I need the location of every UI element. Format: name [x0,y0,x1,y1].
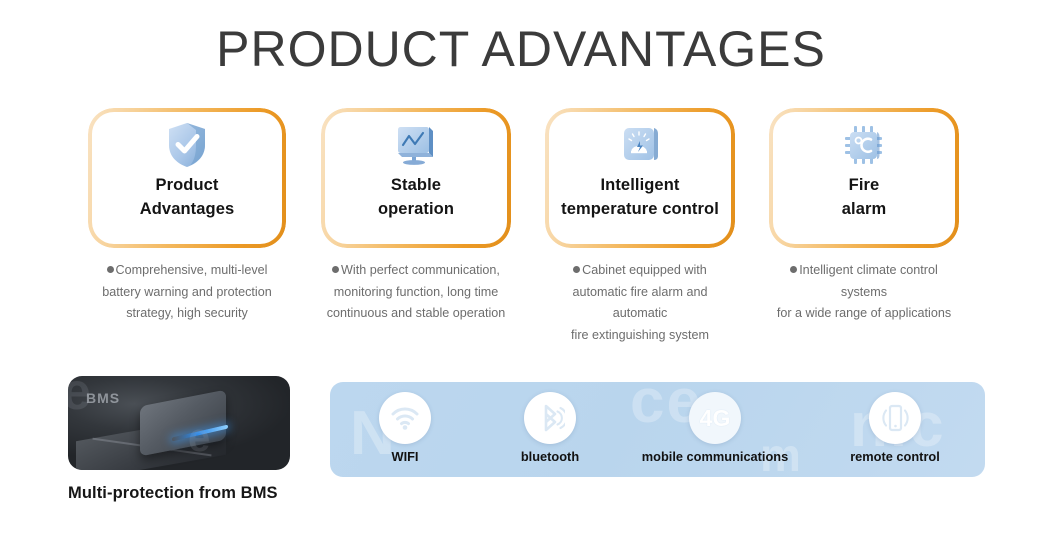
four-g-icon: 4G [689,392,741,444]
advantage-card-label: Product Advantages [140,174,235,222]
advantage-card-fire-alarm[interactable]: Fire alarm Intelligent climate control s… [769,108,959,325]
connectivity-item-mobile[interactable]: 4G mobile communications [655,392,775,464]
advantage-card-label: Fire alarm [842,174,887,222]
bms-caption: Multi-protection from BMS [68,484,290,503]
bluetooth-icon [524,392,576,444]
wifi-icon [379,392,431,444]
advantage-card-description: With perfect communication, monitoring f… [321,260,511,325]
bullet-dot-icon [107,266,114,273]
monitor-chart-icon [393,120,439,170]
temperature-gauge-icon [618,120,662,170]
connectivity-panel: N ce nic m WIFI [330,382,985,477]
advantage-card-temperature-control[interactable]: Intelligent temperature control Cabinet … [545,108,735,347]
bullet-dot-icon [573,266,580,273]
photo-watermark-secondary: e [188,416,210,461]
bms-chip-label: BMS [86,390,120,406]
bullet-dot-icon [332,266,339,273]
smartphone-signal-icon [869,392,921,444]
chip-celsius-icon [841,120,887,170]
advantage-cards-row: Product Advantages Comprehensive, multi-… [0,108,1042,338]
connectivity-label: WIFI [391,449,418,464]
connectivity-label: remote control [850,449,940,464]
advantage-card-product-advantages[interactable]: Product Advantages Comprehensive, multi-… [88,108,286,325]
connectivity-label: mobile communications [642,449,788,464]
shield-check-icon [165,120,209,170]
advantage-card-stable-operation[interactable]: Stable operation With perfect communicat… [321,108,511,325]
connectivity-item-bluetooth[interactable]: bluetooth [490,392,610,464]
page-title: PRODUCT ADVANTAGES [0,22,1042,77]
connectivity-label: bluetooth [521,449,579,464]
connectivity-item-remote[interactable]: remote control [835,392,955,464]
advantage-card-label: Intelligent temperature control [561,174,719,222]
bms-product-photo: e BMS e [68,376,290,470]
bullet-dot-icon [790,266,797,273]
advantage-card-description: Comprehensive, multi-level battery warni… [88,260,286,325]
advantage-card-description: Cabinet equipped with automatic fire ala… [545,260,735,347]
advantage-card-label: Stable operation [378,174,454,222]
connectivity-item-wifi[interactable]: WIFI [345,392,465,464]
bms-block: e BMS e Multi-protection from BMS [68,376,290,503]
four-g-label: 4G [700,405,731,432]
advantage-card-description: Intelligent climate control systems for … [769,260,959,325]
